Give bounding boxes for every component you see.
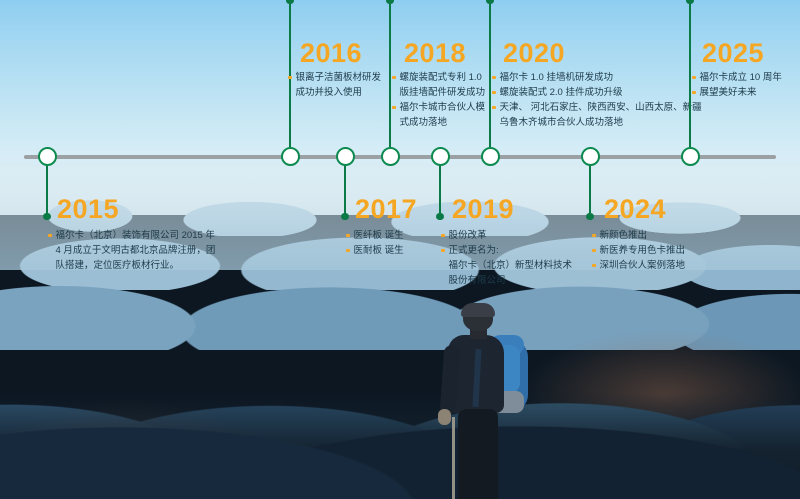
bullet-dot-icon (692, 76, 696, 80)
timeline-node-2019[interactable] (431, 147, 450, 166)
year-label-2024: 2024 (604, 196, 666, 223)
bullet-text: 螺旋装配式 2.0 挂件成功升级 (500, 85, 623, 100)
bullet-line: 医纤板 诞生 (346, 228, 404, 243)
bullet-dot-icon (492, 91, 496, 95)
bullet-line: 股份有限公司 (441, 273, 572, 288)
milestone-bullets-2018: 螺旋装配式专利 1.0版挂墙配件研发成功福尔卡城市合伙人模式成功落地 (392, 70, 485, 130)
bullet-line: 新颜色推出 (592, 228, 685, 243)
timeline-node-2015[interactable] (38, 147, 57, 166)
bullet-line: 正式更名为: (441, 243, 572, 258)
bullet-text: 成功并投入使用 (296, 85, 363, 100)
timeline-node-2025[interactable] (681, 147, 700, 166)
bullet-text: 式成功落地 (400, 115, 448, 130)
bullet-line: 螺旋装配式 2.0 挂件成功升级 (492, 85, 702, 100)
foreground-ridge (0, 392, 800, 499)
bullet-line: 深圳合伙人案例落地 (592, 258, 685, 273)
milestone-stem-cap-2017 (341, 213, 348, 220)
bullet-line: 版挂墙配件研发成功 (392, 85, 485, 100)
bullet-text: 福尔卡成立 10 周年 (700, 70, 782, 85)
bullet-line: 银离子洁菌板材研发 (288, 70, 381, 85)
milestone-stem-cap-2024 (586, 213, 593, 220)
milestone-bullets-2020: 福尔卡 1.0 挂墙机研发成功螺旋装配式 2.0 挂件成功升级天津、 河北石家庄… (492, 70, 702, 130)
timeline-node-2024[interactable] (581, 147, 600, 166)
bullet-text: 医耐板 诞生 (354, 243, 404, 258)
bullet-text: 版挂墙配件研发成功 (400, 85, 486, 100)
bullet-dot-icon (441, 249, 445, 253)
milestone-stem-2019 (439, 157, 442, 217)
bullet-text: 医纤板 诞生 (354, 228, 404, 243)
milestone-stem-2018 (389, 0, 392, 147)
year-label-2020: 2020 (503, 40, 565, 67)
bullet-line: 成功并投入使用 (288, 85, 381, 100)
year-label-2015: 2015 (57, 196, 119, 223)
milestone-stem-2015 (46, 157, 49, 217)
bullet-dot-icon (346, 234, 350, 238)
bullet-line: 福尔卡成立 10 周年 (692, 70, 782, 85)
bullet-line: 展望美好未来 (692, 85, 782, 100)
bullet-dot-icon (441, 234, 445, 238)
bullet-dot-icon (692, 91, 696, 95)
year-label-2016: 2016 (300, 40, 362, 67)
bullet-text: 天津、 河北石家庄、陕西西安、山西太原、新疆 (500, 100, 702, 115)
milestone-bullets-2019: 股份改革正式更名为:福尔卡（北京）新型材料技术股份有限公司 (441, 228, 572, 288)
bullet-line: 螺旋装配式专利 1.0 (392, 70, 485, 85)
bullet-line: 福尔卡 1.0 挂墙机研发成功 (492, 70, 702, 85)
year-label-2017: 2017 (355, 196, 417, 223)
bullet-line: 新医养专用色卡推出 (592, 243, 685, 258)
milestone-bullets-2017: 医纤板 诞生医耐板 诞生 (346, 228, 404, 258)
bullet-text: 新颜色推出 (600, 228, 648, 243)
year-label-2019: 2019 (452, 196, 514, 223)
bullet-line: 式成功落地 (392, 115, 485, 130)
bullet-dot-icon (346, 249, 350, 253)
bullet-text: 乌鲁木齐城市合伙人成功落地 (500, 115, 624, 130)
timeline-node-2018[interactable] (381, 147, 400, 166)
bullet-text: 福尔卡（北京）新型材料技术 (449, 258, 573, 273)
milestone-stem-2017 (344, 157, 347, 217)
bullet-text: 新医养专用色卡推出 (600, 243, 686, 258)
bullet-dot-icon (492, 76, 496, 80)
timeline-node-2016[interactable] (281, 147, 300, 166)
bullet-dot-icon (492, 106, 496, 110)
bullet-text: 正式更名为: (449, 243, 499, 258)
bullet-dot-icon (592, 234, 596, 238)
bullet-text: 福尔卡 1.0 挂墙机研发成功 (500, 70, 614, 85)
trekking-pole (452, 417, 455, 499)
bullet-line: 福尔卡城市合伙人模 (392, 100, 485, 115)
hiker-legs (458, 409, 498, 499)
year-label-2018: 2018 (404, 40, 466, 67)
milestone-stem-2020 (489, 0, 492, 147)
year-label-2025: 2025 (702, 40, 764, 67)
milestone-bullets-2015: 福尔卡（北京）装饰有限公司 2015 年4 月成立于文明古都北京品牌注册，团队搭… (48, 228, 215, 273)
bullet-dot-icon (592, 264, 596, 268)
bullet-text: 深圳合伙人案例落地 (600, 258, 686, 273)
bullet-dot-icon (48, 234, 52, 238)
bullet-text: 4 月成立于文明古都北京品牌注册，团 (56, 243, 216, 258)
bullet-text: 螺旋装配式专利 1.0 (400, 70, 482, 85)
bullet-line: 天津、 河北石家庄、陕西西安、山西太原、新疆 (492, 100, 702, 115)
timeline-node-2020[interactable] (481, 147, 500, 166)
timeline-infographic: 2015福尔卡（北京）装饰有限公司 2015 年4 月成立于文明古都北京品牌注册… (0, 0, 800, 499)
bullet-text: 福尔卡（北京）装饰有限公司 2015 年 (56, 228, 215, 243)
hiker-silhouette (430, 305, 560, 499)
bullet-line: 队搭建，定位医疗板材行业。 (48, 258, 215, 273)
bullet-dot-icon (288, 76, 292, 80)
hiker-cap (461, 303, 495, 317)
bullet-text: 银离子洁菌板材研发 (296, 70, 382, 85)
milestone-bullets-2025: 福尔卡成立 10 周年展望美好未来 (692, 70, 782, 100)
hiker-hand (438, 409, 451, 425)
bullet-line: 医耐板 诞生 (346, 243, 404, 258)
bullet-line: 福尔卡（北京）新型材料技术 (441, 258, 572, 273)
bullet-line: 福尔卡（北京）装饰有限公司 2015 年 (48, 228, 215, 243)
milestone-stem-cap-2019 (436, 213, 443, 220)
bullet-line: 股份改革 (441, 228, 572, 243)
bullet-text: 股份有限公司 (449, 273, 506, 288)
bullet-dot-icon (392, 76, 396, 80)
bullet-text: 福尔卡城市合伙人模 (400, 100, 486, 115)
bullet-dot-icon (592, 249, 596, 253)
bullet-line: 4 月成立于文明古都北京品牌注册，团 (48, 243, 215, 258)
bullet-line: 乌鲁木齐城市合伙人成功落地 (492, 115, 702, 130)
milestone-stem-2025 (689, 0, 692, 147)
milestone-bullets-2024: 新颜色推出新医养专用色卡推出深圳合伙人案例落地 (592, 228, 685, 273)
milestone-stem-2024 (589, 157, 592, 217)
bullet-text: 股份改革 (449, 228, 487, 243)
bullet-text: 队搭建，定位医疗板材行业。 (56, 258, 180, 273)
timeline-axis (24, 155, 776, 159)
milestone-bullets-2016: 银离子洁菌板材研发成功并投入使用 (288, 70, 381, 100)
milestone-stem-cap-2015 (43, 213, 50, 220)
timeline-node-2017[interactable] (336, 147, 355, 166)
bullet-dot-icon (392, 106, 396, 110)
bullet-text: 展望美好未来 (700, 85, 757, 100)
